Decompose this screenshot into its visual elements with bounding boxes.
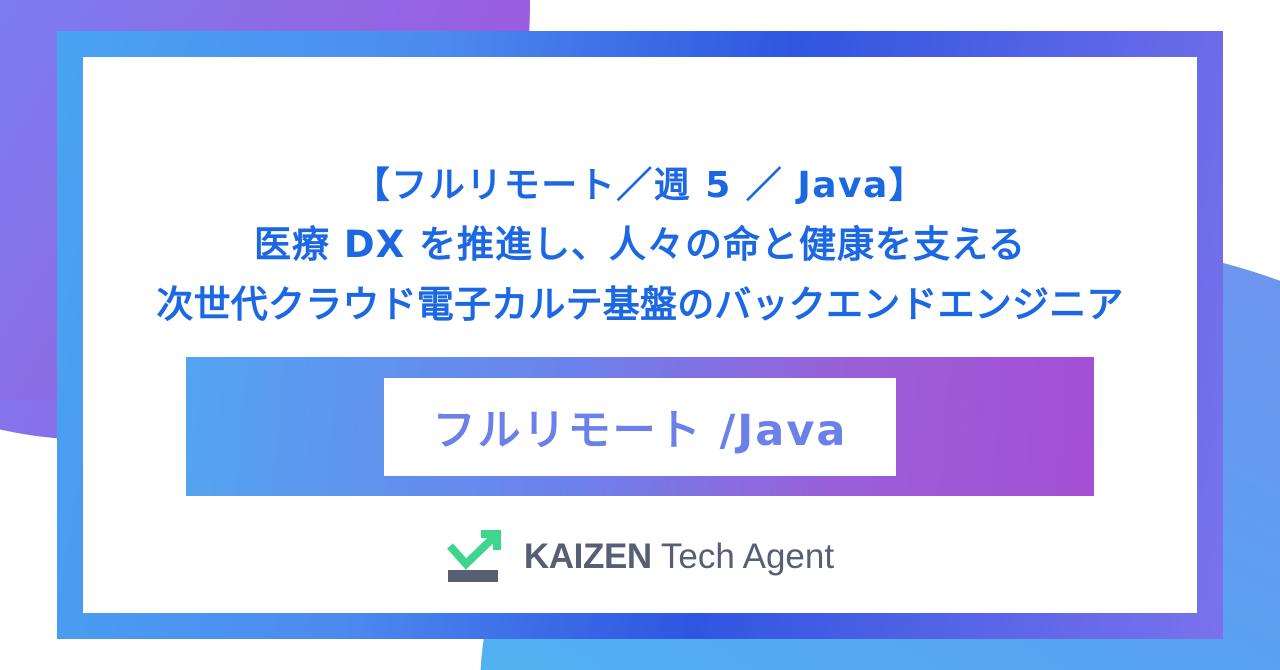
logo-sub-text: Tech Agent [652,537,834,576]
headline-line-3: 次世代クラウド電子カルテ基盤のバックエンドエンジニア [83,275,1197,335]
status-badge: フルリモート /Java [384,378,896,476]
logo-brand-text: KAIZEN [524,537,652,576]
headline-line-1: 【フルリモート／週 5 ／ Java】 [83,157,1197,215]
card-content: 【フルリモート／週 5 ／ Java】 医療 DX を推進し、人々の命と健康を支… [83,57,1197,613]
job-card-canvas: 【フルリモート／週 5 ／ Java】 医療 DX を推進し、人々の命と健康を支… [0,0,1280,670]
badge-band: フルリモート /Java [186,357,1094,496]
growth-arrow-icon [446,526,508,588]
logo: KAIZEN Tech Agent [446,526,834,588]
headline-line-2: 医療 DX を推進し、人々の命と健康を支える [83,215,1197,275]
page-title: 【フルリモート／週 5 ／ Java】 医療 DX を推進し、人々の命と健康を支… [83,157,1197,335]
status-badge-label: フルリモート /Java [433,396,848,458]
logo-wordmark: KAIZEN Tech Agent [524,537,834,577]
